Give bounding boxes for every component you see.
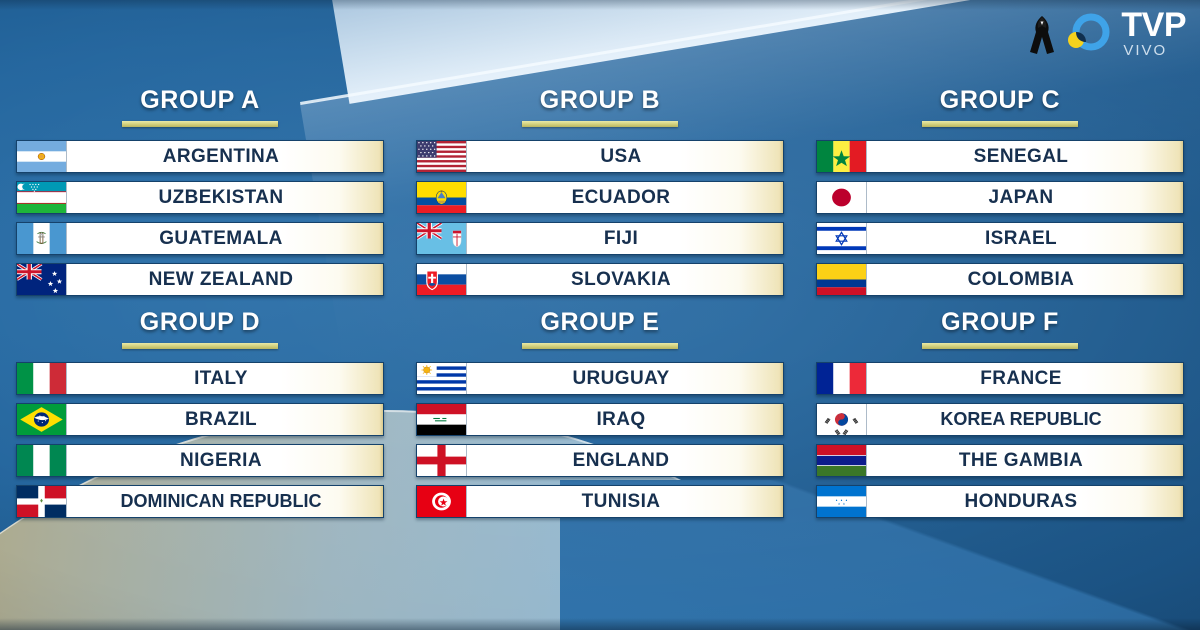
group-panel: GROUP AARGENTINAUZBEKISTANGUATEMALANEW Z…: [0, 86, 400, 308]
flag-dominican-republic-icon: [17, 486, 67, 517]
group-title: GROUP E: [416, 308, 784, 337]
team-name: NEW ZEALAND: [67, 264, 383, 295]
team-row[interactable]: NEW ZEALAND: [16, 263, 384, 296]
broadcaster-name: TVP: [1121, 8, 1186, 42]
flag-korea-republic-icon: [817, 404, 867, 435]
team-list: FRANCEKOREA REPUBLICTHE GAMBIAHONDURAS: [816, 362, 1184, 518]
group-title: GROUP D: [16, 308, 384, 337]
group-panel: GROUP EURUGUAYIRAQENGLANDTUNISIA: [400, 308, 800, 530]
flag-uruguay-icon: [417, 363, 467, 394]
team-row[interactable]: FRANCE: [816, 362, 1184, 395]
broadcaster-live-label: VIVO: [1123, 43, 1167, 58]
team-row[interactable]: HONDURAS: [816, 485, 1184, 518]
team-name: ENGLAND: [467, 445, 783, 476]
group-title-underline: [522, 343, 678, 349]
team-name: DOMINICAN REPUBLIC: [67, 486, 383, 517]
team-name: ITALY: [67, 363, 383, 394]
team-name: URUGUAY: [467, 363, 783, 394]
team-list: ITALYBRAZILNIGERIADOMINICAN REPUBLIC: [16, 362, 384, 518]
team-row[interactable]: ITALY: [16, 362, 384, 395]
team-list: ARGENTINAUZBEKISTANGUATEMALANEW ZEALAND: [16, 140, 384, 296]
flag-israel-icon: [817, 223, 867, 254]
team-name: KOREA REPUBLIC: [867, 404, 1183, 435]
team-row[interactable]: GUATEMALA: [16, 222, 384, 255]
team-row[interactable]: ISRAEL: [816, 222, 1184, 255]
team-row[interactable]: UZBEKISTAN: [16, 181, 384, 214]
group-panel: GROUP CSENEGALJAPANISRAELCOLOMBIA: [800, 86, 1200, 308]
team-row[interactable]: IRAQ: [416, 403, 784, 436]
groups-grid: GROUP AARGENTINAUZBEKISTANGUATEMALANEW Z…: [0, 86, 1200, 530]
team-list: SENEGALJAPANISRAELCOLOMBIA: [816, 140, 1184, 296]
flag-brazil-icon: [17, 404, 67, 435]
flag-senegal-icon: [817, 141, 867, 172]
team-name: SLOVAKIA: [467, 264, 783, 295]
flag-italy-icon: [17, 363, 67, 394]
team-row[interactable]: KOREA REPUBLIC: [816, 403, 1184, 436]
background-top-shadow: [0, 0, 1200, 10]
team-row[interactable]: COLOMBIA: [816, 263, 1184, 296]
team-row[interactable]: SLOVAKIA: [416, 263, 784, 296]
broadcast-graphic: TVP VIVO GROUP AARGENTINAUZBEKISTANGUATE…: [0, 0, 1200, 630]
flag-france-icon: [817, 363, 867, 394]
broadcaster-wordmark: TVP VIVO: [1121, 8, 1186, 58]
flag-nigeria-icon: [17, 445, 67, 476]
group-title-underline: [522, 121, 678, 127]
group-title: GROUP F: [816, 308, 1184, 337]
flag-new-zealand-icon: [17, 264, 67, 295]
team-name: ARGENTINA: [67, 141, 383, 172]
flag-uzbekistan-icon: [17, 182, 67, 213]
group-panel: GROUP DITALYBRAZILNIGERIADOMINICAN REPUB…: [0, 308, 400, 530]
team-name: GUATEMALA: [67, 223, 383, 254]
flag-honduras-icon: [817, 486, 867, 517]
team-name: COLOMBIA: [867, 264, 1183, 295]
team-name: IRAQ: [467, 404, 783, 435]
team-name: TUNISIA: [467, 486, 783, 517]
team-name: THE GAMBIA: [867, 445, 1183, 476]
team-row[interactable]: ECUADOR: [416, 181, 784, 214]
flag-england-icon: [417, 445, 467, 476]
flag-colombia-icon: [817, 264, 867, 295]
team-name: UZBEKISTAN: [67, 182, 383, 213]
tvp-ring-icon: [1065, 8, 1115, 58]
group-panel: GROUP FFRANCEKOREA REPUBLICTHE GAMBIAHON…: [800, 308, 1200, 530]
group-title-underline: [122, 343, 278, 349]
team-row[interactable]: DOMINICAN REPUBLIC: [16, 485, 384, 518]
team-list: USAECUADORFIJISLOVAKIA: [416, 140, 784, 296]
team-row[interactable]: SENEGAL: [816, 140, 1184, 173]
background-bottom-shadow: [0, 618, 1200, 630]
flag-japan-icon: [817, 182, 867, 213]
team-name: JAPAN: [867, 182, 1183, 213]
team-name: USA: [467, 141, 783, 172]
black-mourning-ribbon-icon: [1025, 10, 1059, 56]
team-name: HONDURAS: [867, 486, 1183, 517]
team-row[interactable]: BRAZIL: [16, 403, 384, 436]
team-name: BRAZIL: [67, 404, 383, 435]
flag-guatemala-icon: [17, 223, 67, 254]
flag-fiji-icon: [417, 223, 467, 254]
flag-ecuador-icon: [417, 182, 467, 213]
team-row[interactable]: JAPAN: [816, 181, 1184, 214]
flag-slovakia-icon: [417, 264, 467, 295]
group-title: GROUP C: [816, 86, 1184, 115]
team-row[interactable]: THE GAMBIA: [816, 444, 1184, 477]
flag-iraq-icon: [417, 404, 467, 435]
team-name: FRANCE: [867, 363, 1183, 394]
group-panel: GROUP BUSAECUADORFIJISLOVAKIA: [400, 86, 800, 308]
team-row[interactable]: USA: [416, 140, 784, 173]
group-title-underline: [122, 121, 278, 127]
team-list: URUGUAYIRAQENGLANDTUNISIA: [416, 362, 784, 518]
group-title: GROUP B: [416, 86, 784, 115]
flag-argentina-icon: [17, 141, 67, 172]
team-row[interactable]: TUNISIA: [416, 485, 784, 518]
flag-tunisia-icon: [417, 486, 467, 517]
group-title-underline: [922, 343, 1078, 349]
team-row[interactable]: URUGUAY: [416, 362, 784, 395]
team-name: ISRAEL: [867, 223, 1183, 254]
team-row[interactable]: FIJI: [416, 222, 784, 255]
group-title-underline: [922, 121, 1078, 127]
flag-gambia-icon: [817, 445, 867, 476]
team-row[interactable]: ARGENTINA: [16, 140, 384, 173]
group-title: GROUP A: [16, 86, 384, 115]
team-row[interactable]: ENGLAND: [416, 444, 784, 477]
team-name: SENEGAL: [867, 141, 1183, 172]
flag-usa-icon: [417, 141, 467, 172]
team-row[interactable]: NIGERIA: [16, 444, 384, 477]
team-name: NIGERIA: [67, 445, 383, 476]
team-name: ECUADOR: [467, 182, 783, 213]
team-name: FIJI: [467, 223, 783, 254]
broadcaster-logo: TVP VIVO: [1025, 8, 1186, 58]
